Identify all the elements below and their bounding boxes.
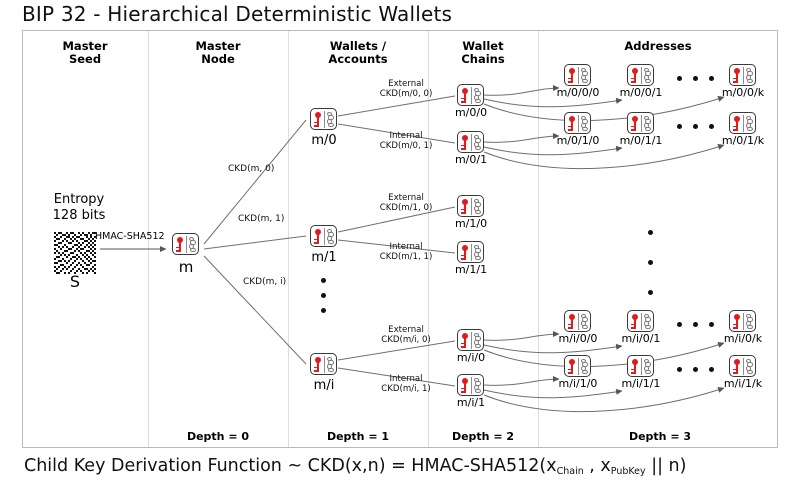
address-label-m0001: m/0/0/1 [612, 86, 670, 99]
formula-mid: , x [584, 456, 611, 476]
column-divider-2 [288, 31, 289, 447]
address-label-mi01k: m/i/1/k [714, 377, 772, 390]
depth-label-1: Depth = 1 [289, 430, 427, 443]
node-label-m01: m/0/1 [440, 153, 502, 166]
column-divider-4 [538, 31, 539, 447]
key-icon-address-mi011 [627, 355, 654, 377]
edge-label-chain-m00: External CKD(m/0, 0) [360, 79, 452, 99]
column-header-wallets-accounts: Wallets / Accounts [289, 40, 427, 66]
ellipsis-dot-row1-3 [709, 76, 714, 81]
ellipsis-dot-row2-1 [677, 124, 682, 129]
edge-formula: CKD(m/1, 1) [360, 252, 452, 262]
edge-formula: CKD(m/i, 1) [360, 384, 452, 394]
key-icon-chain-mi0 [457, 329, 484, 351]
key-icon-address-mi010 [564, 355, 591, 377]
key-icon-chain-m11 [457, 241, 484, 263]
edge-kind: Internal [360, 242, 452, 252]
header-line-1: Addresses [539, 40, 777, 53]
depth-label-3: Depth = 3 [560, 430, 760, 443]
edge-label-ckd-m-1: CKD(m, 1) [238, 214, 284, 224]
address-label-m0011: m/0/1/1 [612, 134, 670, 147]
edge-label-chain-m11: Internal CKD(m/1, 1) [360, 242, 452, 262]
key-icon-address-mi000 [564, 310, 591, 332]
edge-formula: CKD(m/0, 0) [360, 89, 452, 99]
edge-kind: Internal [360, 131, 452, 141]
key-icon-account-m1 [310, 225, 337, 247]
node-label-mi0: m/i/0 [440, 351, 502, 364]
key-icon-address-mi001 [627, 310, 654, 332]
address-label-m001k: m/0/1/k [714, 134, 772, 147]
node-label-master: m [155, 258, 217, 276]
column-header-master-seed: Master Seed [23, 40, 147, 66]
key-icon-account-m0 [310, 108, 337, 130]
edge-formula: CKD(m/i, 0) [360, 335, 452, 345]
diagram-canvas: BIP 32 - Hierarchical Deterministic Wall… [0, 0, 800, 493]
edge-label-ckd-m-0: CKD(m, 0) [228, 164, 274, 174]
address-label-mi00k: m/i/0/k [714, 332, 772, 345]
key-icon-chain-mi1 [457, 374, 484, 396]
hmac-sha512-arrow-label: HMAC-SHA512 [95, 231, 165, 242]
page-title: BIP 32 - Hierarchical Deterministic Wall… [22, 2, 452, 26]
node-label-m0: m/0 [293, 133, 355, 148]
key-icon-address-m000k [729, 64, 756, 86]
address-label-mi000: m/i/0/0 [549, 332, 607, 345]
formula-prefix: Child Key Derivation Function ~ CKD(x,n)… [24, 456, 557, 476]
edge-formula: CKD(m/0, 1) [360, 141, 452, 151]
ellipsis-dot-accounts-2 [321, 293, 326, 298]
entropy-line-2: 128 bits [34, 208, 124, 224]
ellipsis-dot-addresses-3 [648, 290, 653, 295]
ellipsis-dot-row2-2 [693, 124, 698, 129]
key-icon-address-mi00k [729, 310, 756, 332]
entropy-label: Entropy 128 bits [34, 192, 124, 224]
key-icon-address-m0001 [627, 64, 654, 86]
address-label-m000k: m/0/0/k [714, 86, 772, 99]
node-label-m00: m/0/0 [440, 106, 502, 119]
ellipsis-dot-accounts-3 [321, 308, 326, 313]
seed-noise-square [54, 232, 96, 274]
address-label-mi001: m/i/0/1 [612, 332, 670, 345]
key-icon-master-node [172, 233, 199, 255]
header-line-2: Node [149, 53, 287, 66]
edge-label-chain-m01: Internal CKD(m/0, 1) [360, 131, 452, 151]
edge-kind: External [360, 325, 452, 335]
address-label-m0000: m/0/0/0 [549, 86, 607, 99]
ellipsis-dot-addresses-1 [648, 230, 653, 235]
edge-kind: External [360, 193, 452, 203]
edge-label-chain-m10: External CKD(m/1, 0) [360, 193, 452, 213]
node-label-m10: m/1/0 [440, 217, 502, 230]
header-line-2: Accounts [289, 53, 427, 66]
ellipsis-dot-addresses-2 [648, 260, 653, 265]
column-header-master-node: Master Node [149, 40, 287, 66]
column-header-addresses: Addresses [539, 40, 777, 53]
edge-label-chain-mi0: External CKD(m/i, 0) [360, 325, 452, 345]
key-icon-address-m0010 [564, 112, 591, 134]
ellipsis-dot-row2-3 [709, 124, 714, 129]
ellipsis-dot-row1-1 [677, 76, 682, 81]
node-label-m1: m/1 [293, 250, 355, 265]
ellipsis-dot-row3-2 [693, 322, 698, 327]
node-label-mi1: m/i/1 [440, 396, 502, 409]
address-label-mi010: m/i/1/0 [549, 377, 607, 390]
formula-suffix: || n) [646, 456, 687, 476]
formula-sub-chain: Chain [557, 466, 584, 477]
formula-sub-pubkey: PubKey [611, 466, 646, 477]
ckd-formula: Child Key Derivation Function ~ CKD(x,n)… [24, 456, 686, 476]
edge-kind: External [360, 79, 452, 89]
ellipsis-dot-row4-1 [677, 367, 682, 372]
edge-label-chain-mi1: Internal CKD(m/i, 1) [360, 374, 452, 394]
key-icon-chain-m10 [457, 195, 484, 217]
header-line-2: Seed [23, 53, 147, 66]
key-icon-address-m001k [729, 112, 756, 134]
edge-kind: Internal [360, 374, 452, 384]
key-icon-account-mi [310, 353, 337, 375]
key-icon-address-mi01k [729, 355, 756, 377]
ellipsis-dot-row3-3 [709, 322, 714, 327]
key-icon-address-m0011 [627, 112, 654, 134]
node-label-m11: m/1/1 [440, 263, 502, 276]
ellipsis-dot-row1-2 [693, 76, 698, 81]
edge-label-ckd-m-i: CKD(m, i) [243, 277, 286, 287]
ellipsis-dot-row3-1 [677, 322, 682, 327]
header-line-2: Chains [429, 53, 537, 66]
key-icon-chain-m00 [457, 84, 484, 106]
column-header-wallet-chains: Wallet Chains [429, 40, 537, 66]
depth-label-2: Depth = 2 [429, 430, 537, 443]
key-icon-chain-m01 [457, 131, 484, 153]
edge-formula: CKD(m/1, 0) [360, 203, 452, 213]
address-label-m0010: m/0/1/0 [549, 134, 607, 147]
key-icon-address-m0000 [564, 64, 591, 86]
ellipsis-dot-row4-3 [709, 367, 714, 372]
entropy-line-1: Entropy [34, 192, 124, 208]
node-label-mi: m/i [293, 378, 355, 393]
address-label-mi011: m/i/1/1 [612, 377, 670, 390]
ellipsis-dot-row4-2 [693, 367, 698, 372]
ellipsis-dot-accounts-1 [321, 278, 326, 283]
depth-label-0: Depth = 0 [149, 430, 287, 443]
seed-symbol-label: S [44, 272, 106, 291]
